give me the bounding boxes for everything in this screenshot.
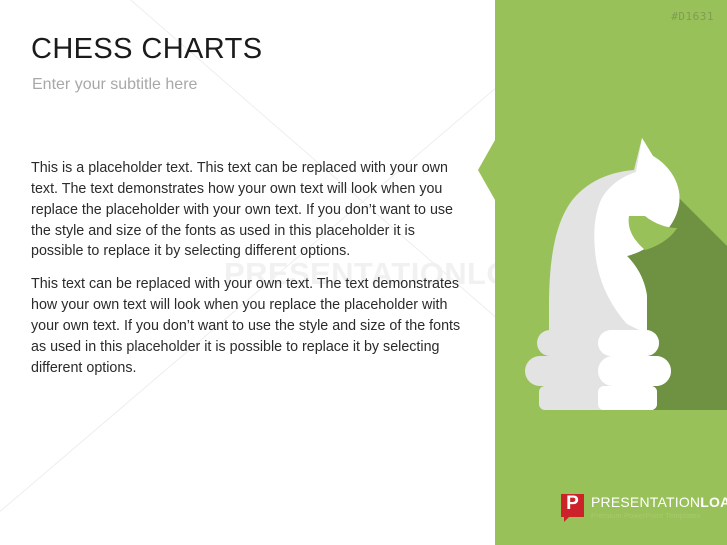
logo-bubble-tail [564,516,570,522]
green-panel-notch [478,140,495,200]
knight-collar-lower-highlight [598,356,671,386]
body-text-block[interactable]: This is a placeholder text. This text ca… [31,158,465,379]
body-paragraph: This text can be replaced with your own … [31,274,465,378]
document-id-label: #D1631 [671,10,714,23]
logo-speech-bubble-icon: P [561,494,584,517]
logo-wordmark: PRESENTATIONLOAD® Premium PowerPoint Tem… [591,494,727,520]
logo-name-light: PRESENTATION [591,494,700,510]
knight-base-highlight [598,386,657,410]
logo-tagline: Premium PowerPoint Templates [591,511,727,520]
slide-canvas: PRESENTATIONLOAD #D1631 CHESS CHARTS Ent… [0,0,727,545]
logo-name-bold: LOAD [700,494,727,510]
presentationload-logo: P PRESENTATIONLOAD® Premium PowerPoint T… [561,494,727,520]
slide-subtitle[interactable]: Enter your subtitle here [32,76,197,94]
slide-title: CHESS CHARTS [31,33,262,66]
body-paragraph: This is a placeholder text. This text ca… [31,158,465,262]
knight-collar-upper-highlight [598,330,659,356]
logo-name: PRESENTATIONLOAD® [591,495,727,509]
logo-mark-letter: P [561,492,584,515]
chess-knight-illustration [495,120,727,420]
